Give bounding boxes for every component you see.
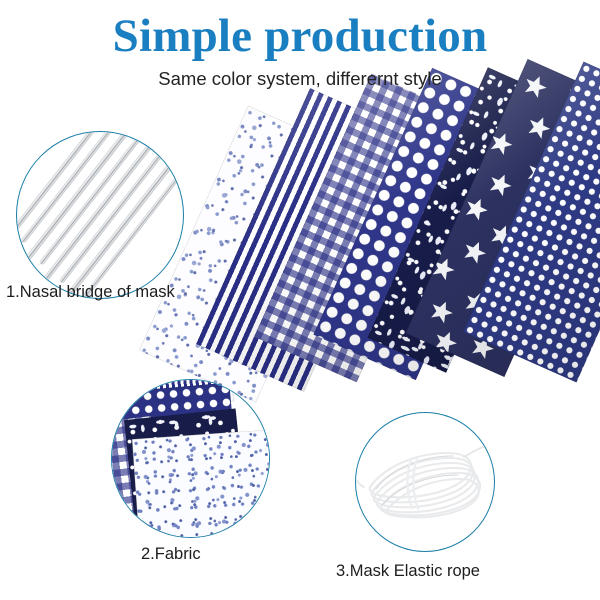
- swatch-edge: [132, 429, 269, 537]
- callout-caption-nasal-bridge: 1.Nasal bridge of mask: [6, 283, 175, 302]
- page-subtitle: Same color system, differernt style: [0, 66, 600, 92]
- callout-circle-nasal-bridge: [16, 131, 184, 299]
- elastic-rope-icon: [356, 413, 494, 551]
- fabric-sample-floral: [132, 429, 269, 537]
- nose-bridge-strips-icon: [17, 132, 183, 298]
- infographic-canvas: Simple production Same color system, dif…: [0, 0, 600, 600]
- fabric-stack-clip: [112, 380, 269, 537]
- callout-circle-elastic-rope: [355, 412, 495, 552]
- callout-caption-elastic-rope: 3.Mask Elastic rope: [336, 562, 480, 581]
- page-title: Simple production: [0, 8, 600, 64]
- callout-circle-fabric: [111, 379, 270, 538]
- callout-caption-fabric: 2.Fabric: [141, 545, 201, 564]
- fabric-fan-group: [196, 78, 600, 398]
